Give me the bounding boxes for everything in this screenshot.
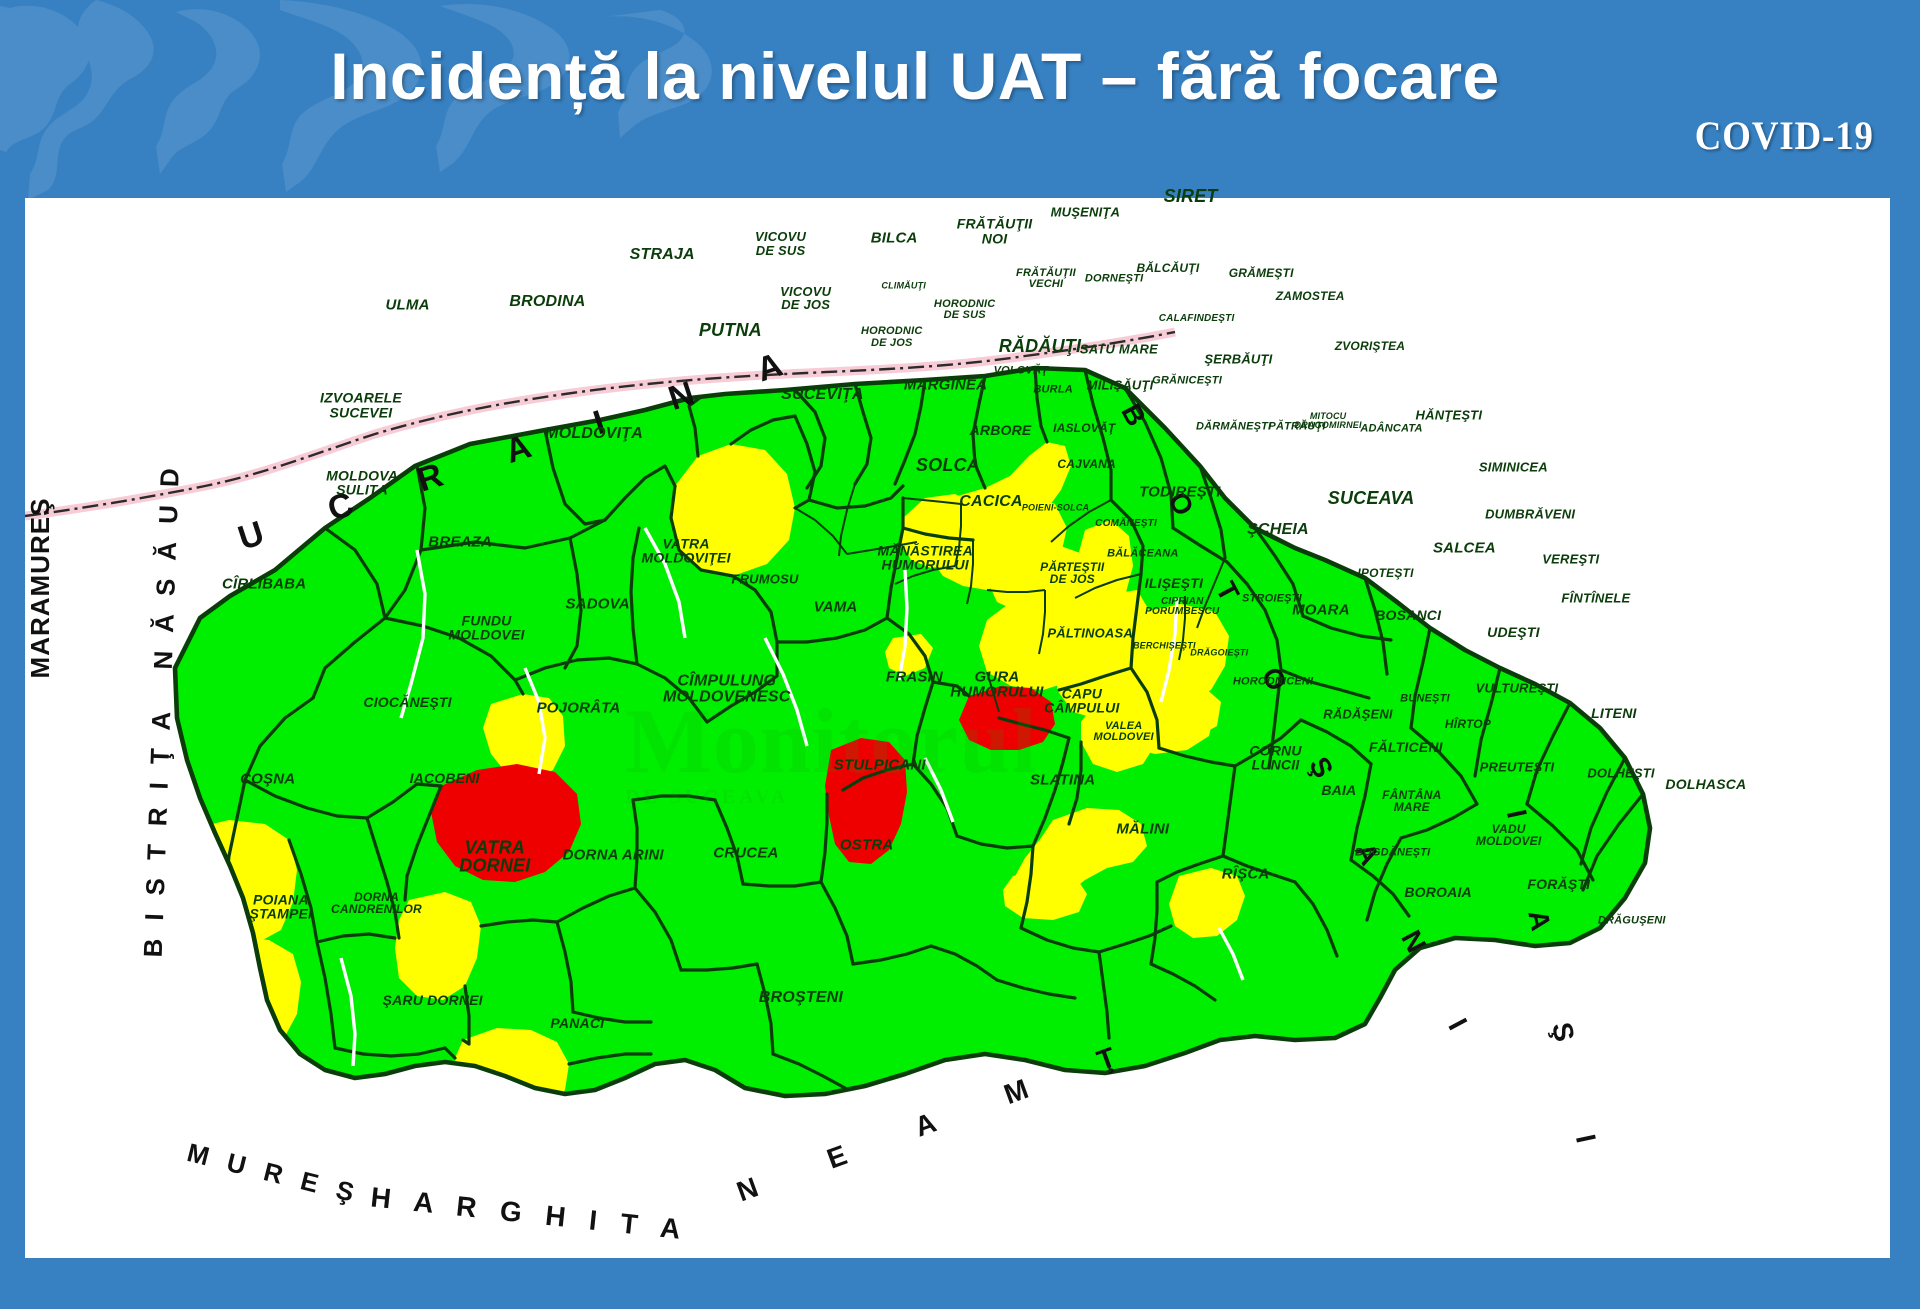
uat-label: IZVOARELESUCEVEI bbox=[320, 391, 402, 420]
uat-label: CIPRIANPORUMBESCU bbox=[1145, 596, 1219, 616]
uat-label: RÎŞCA bbox=[1222, 867, 1270, 882]
uat-label: DORNACANDRENILOR bbox=[331, 891, 422, 915]
uat-label: ZVORIŞTEA bbox=[1335, 340, 1405, 352]
uat-label: CÎMPULUNGMOLDOVENESC bbox=[663, 674, 791, 707]
uat-label: IASLOVĂŢ bbox=[1053, 422, 1115, 434]
uat-label: IACOBENI bbox=[410, 771, 480, 785]
uat-label: VAMA bbox=[814, 599, 858, 614]
uat-label: PREUTEŞTI bbox=[1480, 761, 1555, 774]
uat-label: SUCEVIŢA bbox=[781, 386, 864, 402]
uat-label: SATU MARE bbox=[1080, 343, 1158, 356]
uat-label: COŞNA bbox=[240, 772, 295, 787]
uat-label: MOLDOVIŢA bbox=[545, 426, 643, 442]
uat-label: CALAFINDEŞTI bbox=[1159, 314, 1235, 324]
uat-label: BRODINA bbox=[509, 293, 585, 309]
uat-label: HÎRTOP bbox=[1445, 718, 1491, 730]
uat-label: MĂNĂSTIREAHUMORULUI bbox=[878, 543, 973, 572]
uat-label: CAJVANA bbox=[1057, 457, 1116, 469]
uat-label: ZAMOSTEA bbox=[1276, 290, 1345, 302]
uat-label: SIRET bbox=[1164, 186, 1218, 204]
uat-label: BERCHIŞEŞTI bbox=[1133, 641, 1196, 650]
uat-label: MOARA bbox=[1292, 602, 1350, 617]
uat-label: FRUMOSU bbox=[731, 572, 798, 585]
uat-label: FÎNTÎNELE bbox=[1561, 592, 1630, 605]
uat-label: MARGINEA bbox=[904, 377, 987, 392]
uat-label: PĂRTEŞTIIDE JOS bbox=[1040, 561, 1104, 585]
uat-label: UDEŞTI bbox=[1487, 624, 1540, 638]
uat-label: RĂDĂŞENI bbox=[1323, 707, 1393, 720]
neighbour-label-maramures: MARAMUREŞ bbox=[25, 488, 56, 688]
uat-label: TODIREŞTI bbox=[1139, 485, 1221, 500]
uat-label: POJORÂTA bbox=[537, 700, 621, 715]
uat-label: PĂLTINOASA bbox=[1047, 626, 1133, 639]
uat-label: ADÂNCATA bbox=[1360, 423, 1422, 434]
uat-label: BĂLĂCEANA bbox=[1107, 549, 1178, 560]
uat-label: HĂNŢEŞTI bbox=[1416, 408, 1483, 421]
uat-label: RĂDĂUŢI bbox=[999, 336, 1081, 354]
uat-label: BILCA bbox=[871, 231, 918, 246]
uat-label: CORNULUNCII bbox=[1249, 744, 1301, 773]
uat-label: SUCEAVA bbox=[1328, 489, 1415, 507]
uat-label: DUMBRĂVENI bbox=[1485, 507, 1575, 520]
uat-label: SADOVA bbox=[566, 596, 630, 611]
uat-label: CRUCEA bbox=[713, 845, 778, 860]
uat-label: CACICA bbox=[959, 494, 1022, 510]
uat-label: BURLA bbox=[1033, 384, 1073, 395]
uat-label: FRASIN bbox=[886, 669, 943, 684]
uat-label: DOLHASCA bbox=[1665, 777, 1746, 791]
uat-label: STULPICANI bbox=[834, 757, 926, 772]
uat-label: MOLDOVASULIŢA bbox=[326, 468, 398, 497]
uat-label: CIOCĂNEŞTI bbox=[363, 695, 451, 709]
uat-label: MILIŞĂUŢI bbox=[1087, 378, 1154, 391]
uat-label: FĂLTICENI bbox=[1369, 740, 1443, 754]
uat-label: DOLHEŞTI bbox=[1587, 767, 1654, 780]
uat-label: VEREŞTI bbox=[1542, 552, 1599, 565]
uat-label: BOSANCI bbox=[1375, 608, 1441, 622]
uat-label: HORODNICDE SUS bbox=[934, 299, 996, 321]
uat-label: SIMINICEA bbox=[1479, 461, 1548, 474]
uat-label: POIANAŞTAMPEI bbox=[250, 892, 313, 921]
uat-label: LITENI bbox=[1591, 705, 1637, 719]
uat-label: VOLOVĂŢ bbox=[994, 365, 1049, 376]
uat-label: FRĂTĂUŢIINOI bbox=[957, 217, 1033, 246]
uat-label: FORĂŞTI bbox=[1527, 877, 1590, 891]
uat-label: BUNEŞTI bbox=[1400, 694, 1450, 705]
uat-label: VADUMOLDOVEI bbox=[1476, 823, 1542, 847]
uat-label: ILIŞEŞTI bbox=[1145, 576, 1203, 590]
uat-label: ŞERBĂUŢI bbox=[1204, 352, 1272, 365]
uat-label: BAIA bbox=[1321, 783, 1356, 797]
covid-tag: COVID-19 bbox=[1695, 112, 1874, 159]
uat-label: COMĂNEŞTI bbox=[1095, 519, 1157, 529]
uat-label: MITOCUDRAGOMIRNEI bbox=[1294, 412, 1361, 430]
uat-label: ULMA bbox=[386, 298, 430, 313]
uat-label: HORODNICDE JOS bbox=[861, 326, 923, 348]
uat-label: VATRADORNEI bbox=[459, 838, 530, 875]
covid-incidence-map-page: Incidență la nivelul UAT – fără focare C… bbox=[0, 0, 1920, 1309]
uat-label: VICOVUDE SUS bbox=[755, 230, 806, 257]
uat-label: CÎRLIBABA bbox=[222, 576, 306, 591]
uat-label: VATRAMOLDOVIŢEI bbox=[642, 536, 731, 565]
uat-label: GRĂNICEŞTI bbox=[1152, 376, 1222, 387]
uat-label: MĂLINI bbox=[1116, 822, 1169, 837]
uat-label: MUŞENIŢA bbox=[1051, 206, 1121, 219]
map-canvas[interactable]: .g{fill:#00ee00;} .y{fill:#ffff00;} .r{f… bbox=[25, 198, 1890, 1258]
uat-label: OSTRA bbox=[840, 837, 894, 852]
uat-label: IPOTEŞTI bbox=[1357, 567, 1413, 579]
uat-label: GURAHUMORULUI bbox=[950, 670, 1043, 701]
uat-label: BĂLCĂUŢI bbox=[1136, 262, 1199, 274]
uat-label: SOLCA bbox=[916, 456, 980, 474]
uat-label: PUTNA bbox=[699, 321, 762, 339]
uat-label: DORNEŞTI bbox=[1085, 273, 1143, 284]
page-title: Incidență la nivelul UAT – fără focare bbox=[0, 38, 1830, 114]
uat-label: DORNA ARINI bbox=[563, 848, 664, 863]
uat-label: VALEAMOLDOVEI bbox=[1094, 720, 1154, 742]
uat-label: BROŞTENI bbox=[759, 990, 843, 1006]
uat-label: DĂRMĂNEŞTI bbox=[1196, 421, 1271, 432]
uat-label: VULTUREŞTI bbox=[1476, 681, 1559, 694]
uat-label: BOGDĂNEŞTI bbox=[1355, 847, 1430, 858]
uat-label: FRĂTĂUŢIIVECHI bbox=[1016, 268, 1076, 290]
uat-label: FUNDUMOLDOVEI bbox=[448, 614, 524, 643]
uat-label: ŞARU DORNEI bbox=[383, 992, 483, 1006]
uat-label: STRAJA bbox=[630, 247, 695, 263]
uat-label: ARBORE bbox=[970, 423, 1032, 437]
uat-label: BREAZA bbox=[428, 535, 492, 550]
page-header: Incidență la nivelul UAT – fără focare C… bbox=[0, 0, 1920, 205]
uat-label: FÂNTÂNAMARE bbox=[1382, 788, 1441, 812]
uat-label: CAPUCÂMPULUI bbox=[1044, 686, 1119, 715]
uat-label: SLATINA bbox=[1030, 773, 1095, 788]
uat-label: VICOVUDE JOS bbox=[780, 285, 831, 312]
uat-label: DRĂGUŞENI bbox=[1598, 915, 1666, 926]
uat-label: PANACI bbox=[550, 1016, 604, 1030]
uat-label: POIENI-SOLCA bbox=[1022, 503, 1089, 512]
uat-label: SALCEA bbox=[1433, 541, 1496, 556]
uat-label: GRĂMEŞTI bbox=[1229, 267, 1294, 279]
uat-label: HORODNICENI bbox=[1233, 676, 1313, 687]
uat-label: ŞCHEIA bbox=[1247, 522, 1309, 538]
uat-label: CLIMĂUŢI bbox=[881, 282, 926, 291]
uat-label: BOROAIA bbox=[1404, 885, 1472, 899]
uat-label: DRĂGOIEŞTI bbox=[1190, 648, 1248, 657]
